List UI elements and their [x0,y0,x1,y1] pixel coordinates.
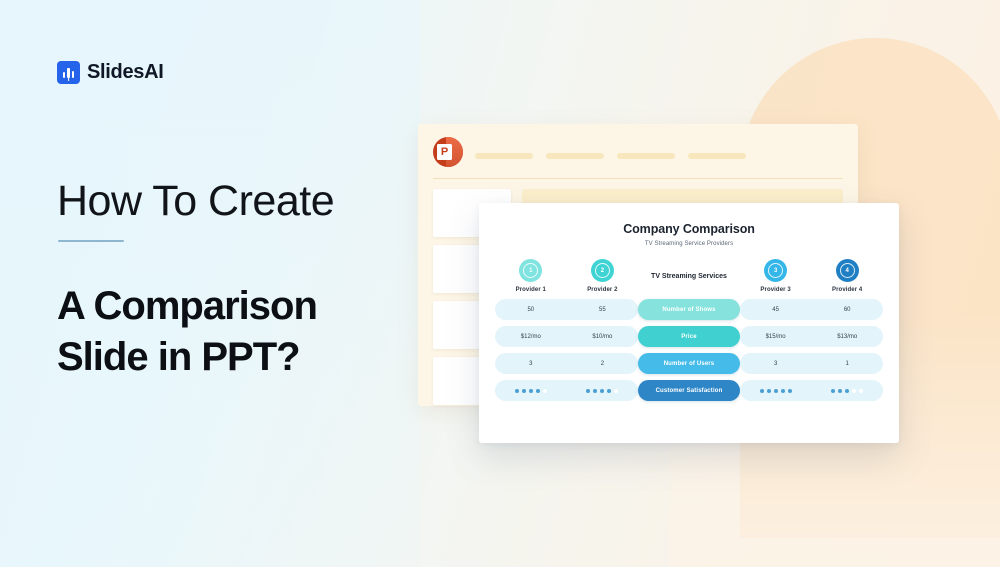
provider-label: Provider 1 [516,287,546,293]
placeholder-bar [688,153,746,159]
powerpoint-icon-letter: P [437,144,452,160]
table-cell [811,380,883,401]
toolbar-placeholder-bars [475,146,843,159]
provider-header-3: 3Provider 3 [740,259,812,293]
provider-header-2: 2Provider 2 [567,259,639,293]
provider-header-4: 4Provider 4 [811,259,883,293]
comparison-header-row: 1Provider 12Provider 2TV Streaming Servi… [495,259,883,293]
table-row: $12/mo$10/moPrice$15/mo$13/mo [495,326,883,347]
rating-dots [586,389,618,393]
rating-dots [760,389,792,393]
table-cell: 55 [567,299,639,320]
rating-dots [831,389,863,393]
powerpoint-toolbar: P [418,124,858,167]
presentation-chart-icon [57,61,80,84]
hero-divider-rule [58,240,124,242]
row-label-pill: Price [638,326,740,347]
row-label-pill: Number of Shows [638,299,740,320]
table-cell: 3 [495,353,567,374]
provider-label: Provider 3 [760,287,790,293]
comparison-slide-card: Company Comparison TV Streaming Service … [479,203,899,443]
rating-dots [515,389,547,393]
comparison-title: Company Comparison [495,222,883,236]
provider-header-1: 1Provider 1 [495,259,567,293]
provider-badge-number: 3 [768,263,783,278]
table-cell: 45 [740,299,812,320]
brand-logo[interactable]: SlidesAI [57,61,164,84]
page-title: A Comparison Slide in PPT? [57,281,417,383]
table-row: Customer Satisfaction [495,380,883,401]
table-cell: 60 [811,299,883,320]
brand-name: SlidesAI [87,61,164,84]
table-cell [567,380,639,401]
provider-badge-icon: 4 [836,259,859,282]
table-cell: 3 [740,353,812,374]
table-row: 5055Number of Shows4560 [495,299,883,320]
table-cell: $15/mo [740,326,812,347]
placeholder-bar [617,153,675,159]
powerpoint-icon: P [433,137,463,167]
provider-label: Provider 4 [832,287,862,293]
table-cell: 50 [495,299,567,320]
provider-badge-icon: 1 [519,259,542,282]
provider-badge-number: 1 [523,263,538,278]
provider-badge-number: 4 [840,263,855,278]
row-label-pill: Customer Satisfaction [638,380,740,401]
table-cell: $13/mo [811,326,883,347]
table-cell: 1 [811,353,883,374]
table-cell [495,380,567,401]
table-cell: 2 [567,353,639,374]
provider-badge-number: 2 [595,263,610,278]
table-cell: $10/mo [567,326,639,347]
table-row: 32Number of Users31 [495,353,883,374]
provider-label: Provider 2 [587,287,617,293]
provider-badge-icon: 2 [591,259,614,282]
placeholder-bar [475,153,533,159]
comparison-subtitle: TV Streaming Service Providers [495,241,883,247]
placeholder-bar [546,153,604,159]
provider-badge-icon: 3 [764,259,787,282]
comparison-center-header: TV Streaming Services [638,273,740,280]
row-label-pill: Number of Users [638,353,740,374]
comparison-rows: 5055Number of Shows4560$12/mo$10/moPrice… [495,299,883,401]
table-cell: $12/mo [495,326,567,347]
hero-kicker: How To Create [57,180,334,223]
table-cell [740,380,812,401]
